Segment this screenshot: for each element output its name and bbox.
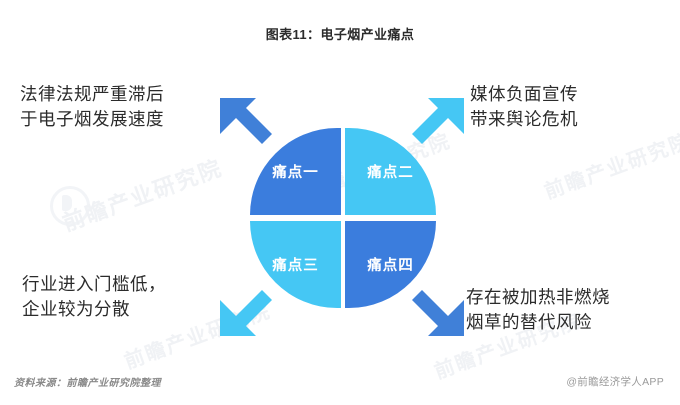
quadrant-pain-point-4[interactable]: 痛点四 [345, 221, 436, 308]
caption-line: 行业进入门槛低， [22, 272, 166, 297]
quadrant-label: 痛点四 [367, 254, 414, 275]
quadrant-pain-point-2[interactable]: 痛点二 [345, 128, 436, 215]
page-title: 图表11：电子烟产业痛点 [0, 24, 680, 43]
caption-bottom-right: 存在被加热非燃烧 烟草的替代风险 [466, 285, 610, 336]
chart-canvas: 前瞻产业研究院 前瞻产业研究院 前瞻产业研究院 前瞻产业研究院 前瞻产业研究院 … [0, 0, 680, 405]
brand-credit: @前瞻经济学人APP [566, 374, 664, 389]
caption-line: 于电子烟发展速度 [20, 107, 164, 132]
quadrant-circle: 痛点一 痛点二 痛点三 痛点四 [250, 128, 436, 308]
watermark-logo-icon [50, 186, 90, 226]
quadrant-label: 痛点三 [272, 254, 319, 275]
caption-line: 存在被加热非燃烧 [466, 285, 610, 310]
caption-line: 烟草的替代风险 [466, 310, 610, 335]
caption-top-left: 法律法规严重滞后 于电子烟发展速度 [20, 82, 164, 133]
watermark-text: 前瞻产业研究院 [540, 125, 680, 205]
caption-line: 企业较为分散 [22, 297, 166, 322]
quadrant-label: 痛点二 [367, 161, 414, 182]
pain-point-diagram: 痛点一 痛点二 痛点三 痛点四 [218, 98, 466, 336]
caption-bottom-left: 行业进入门槛低， 企业较为分散 [22, 272, 166, 323]
source-note: 资料来源：前瞻产业研究院整理 [14, 374, 161, 389]
caption-line: 带来舆论危机 [470, 107, 578, 132]
caption-top-right: 媒体负面宣传 带来舆论危机 [470, 82, 578, 133]
quadrant-label: 痛点一 [272, 161, 319, 182]
quadrant-pain-point-3[interactable]: 痛点三 [250, 221, 341, 308]
watermark-text: 前瞻产业研究院 [58, 150, 227, 238]
caption-line: 法律法规严重滞后 [20, 82, 164, 107]
caption-line: 媒体负面宣传 [470, 82, 578, 107]
quadrant-pain-point-1[interactable]: 痛点一 [250, 128, 341, 215]
